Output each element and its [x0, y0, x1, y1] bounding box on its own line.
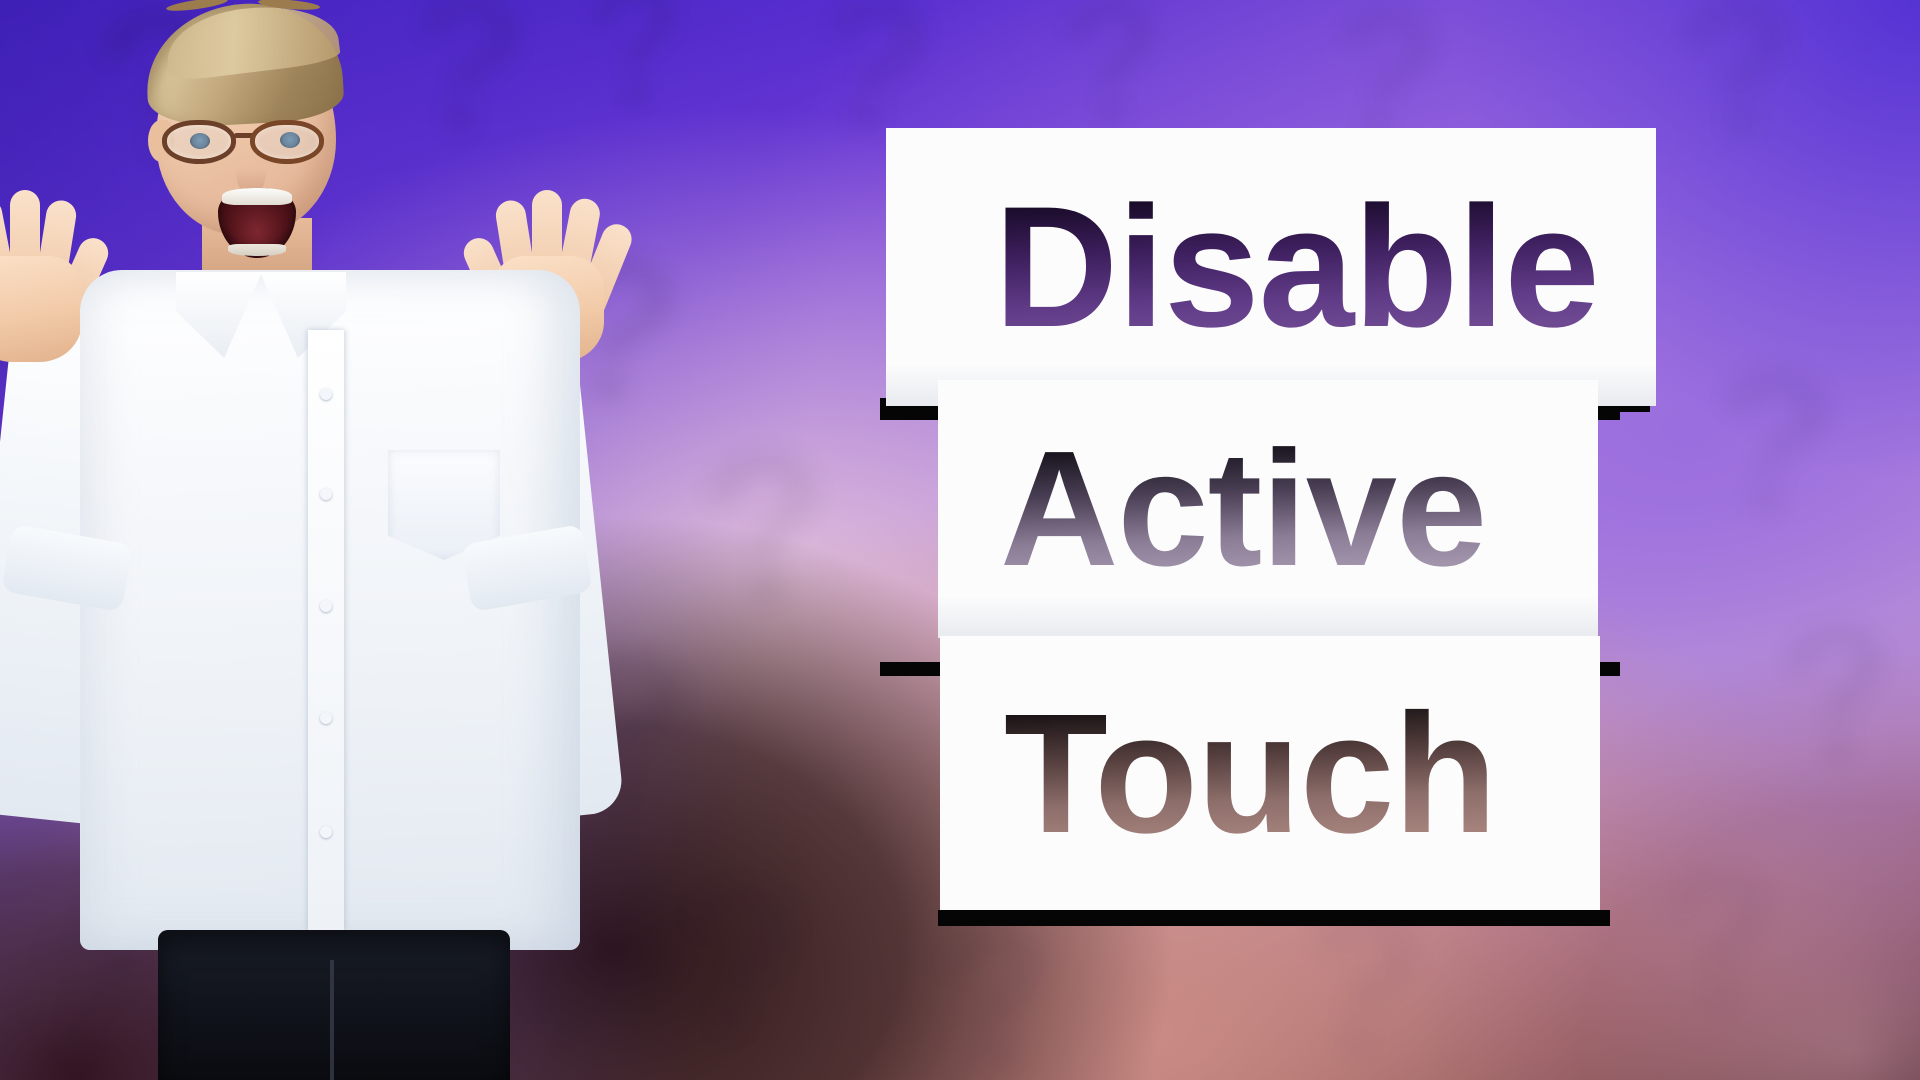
title-word-touch: Touch: [1004, 689, 1496, 859]
teeth-upper: [222, 188, 292, 205]
shirt-placket: [308, 330, 344, 930]
question-mark-icon: ?: [1705, 336, 1844, 548]
panel-2-bottom-shade: [938, 596, 1598, 638]
question-mark-icon: ?: [1652, 835, 1791, 1045]
title-panel-touch: Touch: [940, 636, 1600, 912]
jeans-seam: [330, 960, 334, 1080]
title-word-active: Active: [1000, 427, 1486, 591]
panel-3-drop-shadow-bottom: [938, 910, 1610, 926]
title-panel-disable: Disable: [886, 128, 1656, 406]
question-mark-icon: ?: [667, 851, 813, 1071]
lens-left: [162, 120, 236, 164]
person-figure: [0, 0, 630, 1080]
dark-jeans: [158, 930, 510, 1080]
title-word-disable: Disable: [994, 181, 1599, 353]
question-mark-icon: ?: [1670, 0, 1810, 172]
question-mark-icon: ?: [1770, 591, 1906, 797]
title-panel-active: Active: [938, 380, 1598, 638]
question-mark-icon: ?: [687, 413, 846, 646]
thumbnail-canvas: ????????????????????: [0, 0, 1920, 1080]
teeth-lower: [228, 244, 286, 256]
